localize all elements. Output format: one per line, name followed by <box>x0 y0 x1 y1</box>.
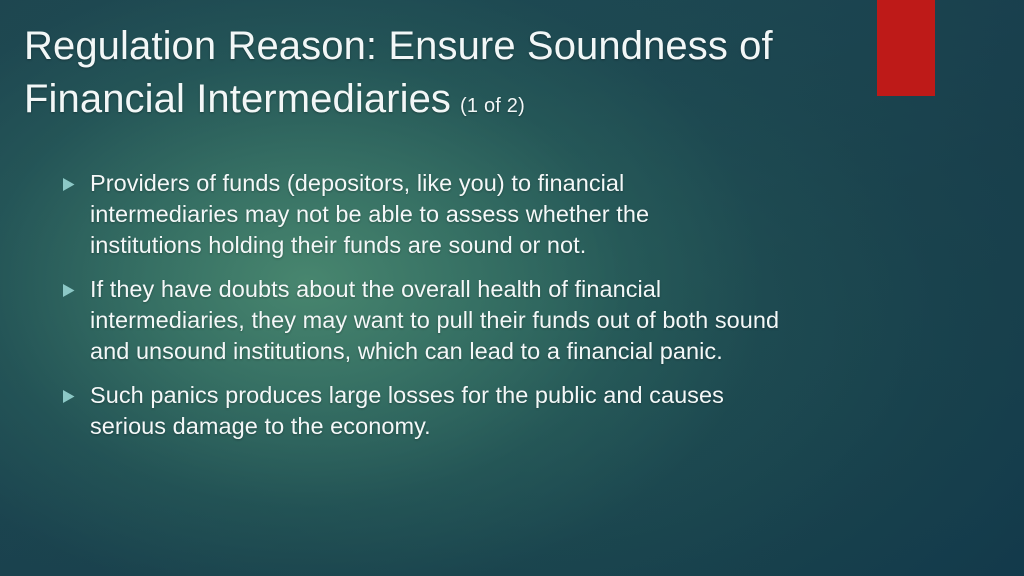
bullet-item: Providers of funds (depositors, like you… <box>62 168 862 261</box>
triangle-right-icon <box>62 168 90 192</box>
title-line-2-row: Financial Intermediaries(1 of 2) <box>24 73 924 133</box>
title-line-1: Regulation Reason: Ensure Soundness of <box>24 20 924 73</box>
bullet-text: Such panics produces large losses for th… <box>90 380 780 442</box>
slide-body: Providers of funds (depositors, like you… <box>62 168 862 442</box>
bullet-item: If they have doubts about the overall he… <box>62 274 862 367</box>
triangle-right-icon <box>62 274 90 298</box>
bullet-item: Such panics produces large losses for th… <box>62 380 862 442</box>
bullet-text: Providers of funds (depositors, like you… <box>90 168 755 261</box>
triangle-right-icon <box>62 380 90 404</box>
title-line-2: Financial Intermediaries <box>24 77 451 121</box>
slide-title: Regulation Reason: Ensure Soundness of F… <box>24 20 924 133</box>
title-suffix: (1 of 2) <box>451 95 525 117</box>
bullet-text: If they have doubts about the overall he… <box>90 274 790 367</box>
slide-canvas: Regulation Reason: Ensure Soundness of F… <box>0 0 1024 576</box>
